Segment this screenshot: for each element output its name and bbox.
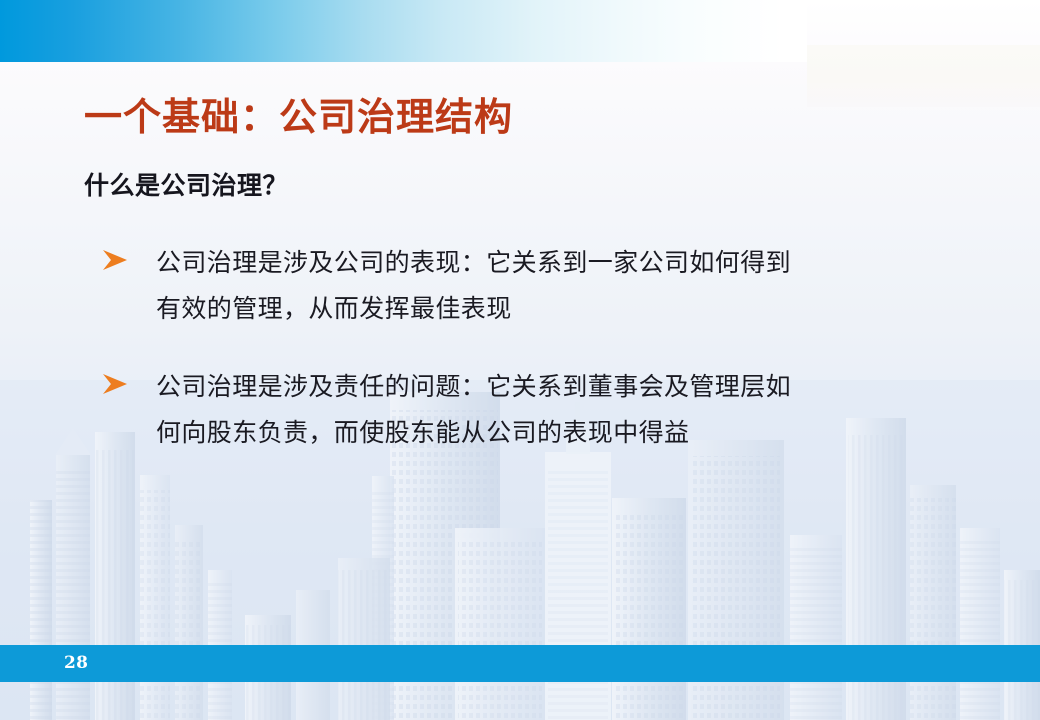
top-right-panel bbox=[807, 45, 1040, 107]
list-item-line: 公司治理是涉及责任的问题：它关系到董事会及管理层如 bbox=[156, 364, 996, 410]
top-gradient-banner bbox=[0, 0, 807, 62]
section-heading: 什么是公司治理？ bbox=[84, 169, 288, 203]
list-item-line: 何向股东负责，而使股东能从公司的表现中得益 bbox=[156, 410, 996, 456]
list-item: 公司治理是涉及责任的问题：它关系到董事会及管理层如 何向股东负责，而使股东能从公… bbox=[96, 364, 996, 456]
bullet-list: 公司治理是涉及公司的表现：它关系到一家公司如何得到 有效的管理，从而发挥最佳表现… bbox=[96, 240, 996, 488]
arrow-right-icon bbox=[100, 372, 130, 396]
page-title: 一个基础：公司治理结构 bbox=[84, 93, 513, 141]
page-number: 28 bbox=[64, 651, 88, 675]
list-item: 公司治理是涉及公司的表现：它关系到一家公司如何得到 有效的管理，从而发挥最佳表现 bbox=[96, 240, 996, 332]
footer-bar bbox=[0, 645, 1040, 682]
arrow-right-icon bbox=[100, 248, 130, 272]
list-item-line: 公司治理是涉及公司的表现：它关系到一家公司如何得到 bbox=[156, 240, 996, 286]
list-item-line: 有效的管理，从而发挥最佳表现 bbox=[156, 286, 996, 332]
slide-canvas: 一个基础：公司治理结构 什么是公司治理？ 公司治理是涉及公司的表现：它关系到一家… bbox=[0, 0, 1040, 720]
